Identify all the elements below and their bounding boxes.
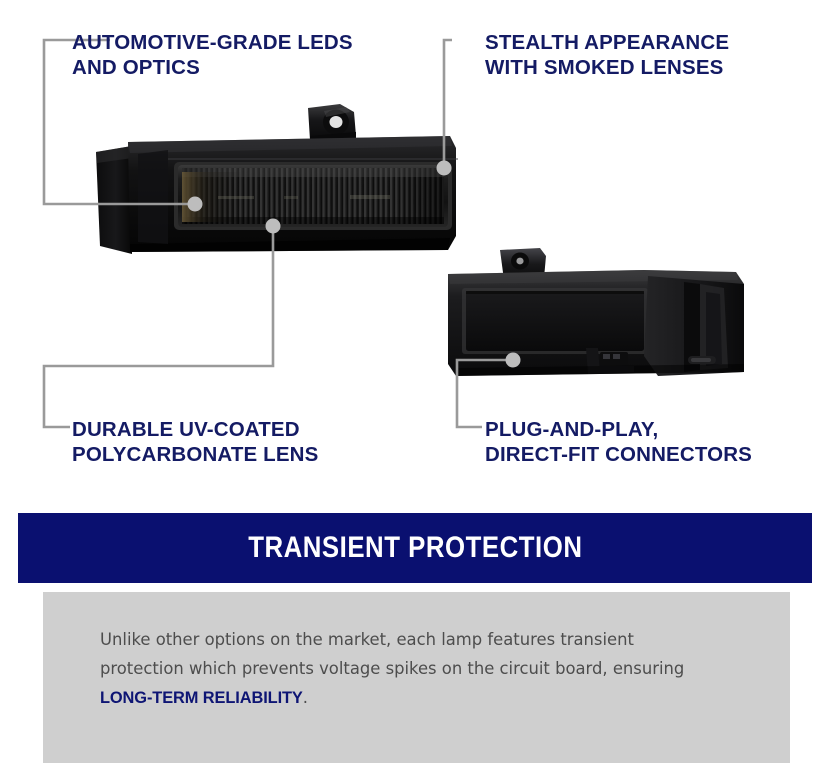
transient-protection-banner: TRANSIENT PROTECTION (18, 513, 812, 583)
callout-durable-uv-coated-lens: DURABLE UV-COATED POLYCARBONATE LENS (72, 417, 432, 467)
paragraph-text-after: . (303, 688, 308, 707)
lamp-rear-view-image (448, 248, 820, 390)
callout-stealth-appearance: STEALTH APPEARANCE WITH SMOKED LENSES (485, 30, 825, 80)
banner-title: TRANSIENT PROTECTION (248, 531, 582, 565)
infographic-root: AUTOMOTIVE-GRADE LEDs AND OPTICS STEALTH… (0, 0, 830, 763)
callout-plug-and-play: PLUG-AND-PLAY, DIRECT-FIT CONNECTORS (485, 417, 825, 467)
paragraph-text-before: Unlike other options on the market, each… (100, 630, 684, 678)
panel-paragraph: Unlike other options on the market, each… (100, 625, 720, 713)
callout-automotive-grade-leds: AUTOMOTIVE-GRADE LEDs AND OPTICS (72, 30, 432, 80)
paragraph-emphasis: LONG-TERM RELIABILITY (100, 689, 303, 707)
smoked-lens (174, 162, 452, 230)
lamp-front-view-image (78, 96, 478, 266)
rear-recessed-panel (462, 288, 648, 354)
transient-protection-panel: Unlike other options on the market, each… (43, 592, 790, 763)
